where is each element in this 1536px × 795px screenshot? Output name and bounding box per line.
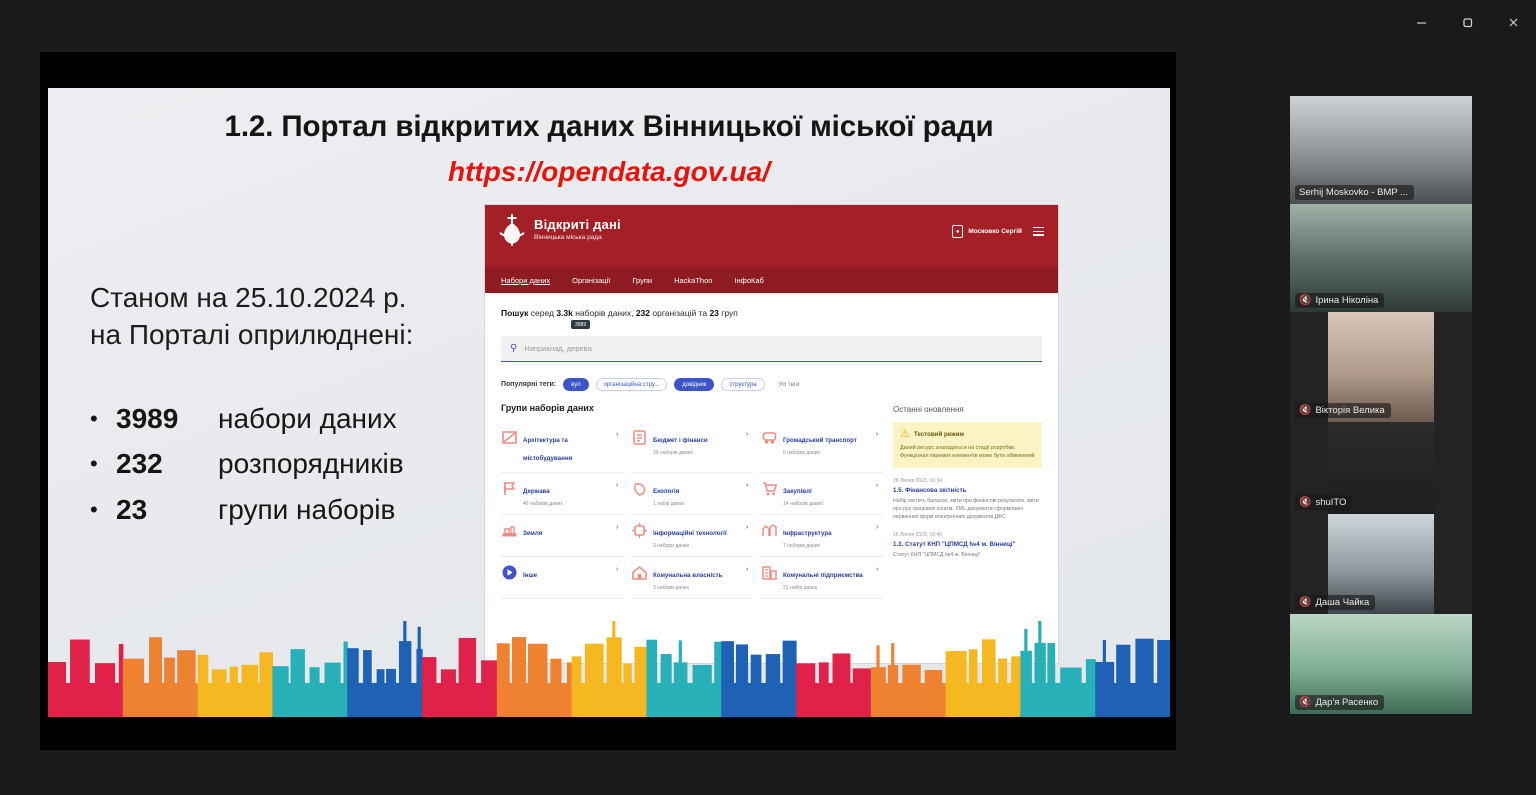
mic-muted-icon: 🔇 <box>1299 698 1311 708</box>
popular-tags: Популярні теги: вул організаційна стру..… <box>501 378 1042 391</box>
group-count: 3 набори даних <box>653 585 741 591</box>
participant-tile[interactable]: 🔇shuITO <box>1290 422 1472 514</box>
group-count: 7 наборів даних <box>783 543 871 549</box>
group-meta: Закупівлі14 наборів даних <box>783 480 871 507</box>
groups-grid: Архітектура та містобудування›Бюджет і ф… <box>501 422 883 599</box>
search-heading-mid2: організацій та <box>650 308 709 318</box>
participant-nameplate: Serhij Moskovko - BMP ... <box>1295 185 1414 200</box>
update-title[interactable]: 1.3. Статут КНП "ЦПМСД №4 м. Вінниці" <box>893 541 1042 549</box>
chevron-right-icon[interactable]: › <box>876 480 883 491</box>
portal-header: Відкриті дані Вінницька міська рада ● Мо… <box>485 205 1058 267</box>
group-card[interactable]: Інформаційні технології3 набори даних› <box>631 515 753 557</box>
warning-triangle-icon: ⚠ <box>900 429 910 440</box>
cart-icon <box>761 480 778 497</box>
group-count: 3 набори даних <box>653 543 741 549</box>
search-heading-suffix: груп <box>719 308 738 318</box>
notice-text: Даний ресурс знаходиться на стадії розро… <box>900 444 1035 460</box>
group-count: 1 набір даних <box>653 501 741 507</box>
search-heading-word: Пошук <box>501 308 528 318</box>
latest-updates-panel: Останні оновлення ⚠ Тестовий режим Даний… <box>893 403 1042 599</box>
brand-subtitle: Вінницька міська рада <box>534 234 621 242</box>
hamburger-icon[interactable] <box>1033 227 1044 238</box>
participant-name: Вікторія Велика <box>1315 405 1384 416</box>
datasets-count: 3.3k <box>556 308 573 318</box>
portal-url: https://opendata.gov.ua/ <box>48 156 1170 188</box>
participant-nameplate: 🔇Вікторія Велика <box>1295 403 1391 418</box>
update-description: Набір містить баланси, звіти про фінансо… <box>893 498 1042 521</box>
group-meta: Екологія1 набір даних <box>653 480 741 507</box>
participant-name: Дар'я Расенко <box>1315 697 1378 708</box>
chevron-right-icon[interactable]: › <box>876 522 883 533</box>
group-meta: Земля <box>523 522 611 540</box>
participant-nameplate: 🔇Даша Чайка <box>1295 595 1375 610</box>
lead-line-2: на Порталі оприлюднені: <box>90 317 490 354</box>
land-icon <box>501 522 518 539</box>
stat-label: набори даних <box>218 396 397 441</box>
page-title: 1.2. Портал відкритих даних Вінницької м… <box>48 110 1170 144</box>
notice-header: ⚠ Тестовий режим <box>900 429 1035 440</box>
group-card[interactable]: Інфраструктура7 наборів даних› <box>761 515 883 557</box>
search-icon: ⚲ <box>510 343 517 354</box>
restore-icon <box>1461 16 1474 29</box>
chevron-right-icon[interactable]: › <box>616 564 623 575</box>
search-heading-mid: наборів даних, <box>573 308 636 318</box>
participant-tile[interactable]: 🔇Дар'я Расенко <box>1290 614 1472 714</box>
group-name: Архітектура та містобудування <box>523 437 572 462</box>
group-meta: Комунальні підприємства21 набір даних <box>783 564 871 591</box>
group-card[interactable]: Архітектура та містобудування› <box>501 422 623 473</box>
popular-tags-label: Популярні теги: <box>501 381 556 388</box>
list-item: • 232 розпорядників <box>90 441 520 486</box>
updates-heading: Останні оновлення <box>893 405 1042 414</box>
participant-tile[interactable]: 🔇Даша Чайка <box>1290 514 1472 614</box>
stat-number: 3989 <box>116 396 218 441</box>
group-card[interactable]: Екологія1 набір даних› <box>631 473 753 515</box>
group-card[interactable]: Інше› <box>501 557 623 599</box>
chevron-right-icon[interactable]: › <box>876 564 883 575</box>
participant-name: Serhij Moskovko - BMP ... <box>1299 187 1408 198</box>
group-name: Комунальні підприємства <box>783 572 863 579</box>
city-skyline-decoration <box>48 621 1170 717</box>
list-item: • 3989 набори даних <box>90 396 520 441</box>
test-mode-notice: ⚠ Тестовий режим Даний ресурс знаходитьс… <box>893 422 1042 468</box>
lead-line-1: Станом на 25.10.2024 р. <box>90 280 490 317</box>
group-meta: Бюджет і фінанси39 наборів даних <box>653 429 741 456</box>
budget-icon <box>631 429 648 446</box>
group-card[interactable]: Закупівлі14 наборів даних› <box>761 473 883 515</box>
account-name: Московко Сергій <box>968 228 1022 235</box>
group-name: Держава <box>523 488 550 495</box>
update-description: Статут КНП "ЦПМСД №4 м. Вінниці" <box>893 552 1042 560</box>
stat-label: розпорядників <box>218 441 404 486</box>
close-button[interactable] <box>1490 0 1536 44</box>
bullet-icon: • <box>90 408 116 430</box>
portal-nav: Набори даних Організації Групи HackaThon… <box>485 267 1058 293</box>
minimize-icon <box>1415 16 1428 29</box>
chevron-right-icon[interactable]: › <box>616 480 623 491</box>
brand-text: Відкриті дані Вінницька міська рада <box>534 218 621 242</box>
group-meta: Комунальна власність3 набори даних <box>653 564 741 591</box>
brand-title: Відкриті дані <box>534 218 621 232</box>
stat-number: 232 <box>116 441 218 486</box>
groups-heading: Групи наборів даних <box>501 403 883 413</box>
group-count: 39 наборів даних <box>653 450 741 456</box>
participants-rail: Serhij Moskovko - BMP ...🔇Ірина Ніколіна… <box>1290 96 1472 714</box>
lead-text: Станом на 25.10.2024 р. на Порталі оприл… <box>90 280 490 354</box>
stats-list: • 3989 набори даних • 232 розпорядників … <box>90 396 520 532</box>
search-heading: Пошук серед 3.3k наборів даних, 232 орга… <box>501 308 1042 318</box>
participant-nameplate: 🔇Ірина Ніколіна <box>1295 293 1384 308</box>
group-meta: Інфраструктура7 наборів даних <box>783 522 871 549</box>
participant-name: Даша Чайка <box>1315 597 1369 608</box>
notice-title: Тестовий режим <box>914 431 964 438</box>
participant-name: shuITO <box>1315 497 1346 508</box>
group-meta: Інше <box>523 564 611 582</box>
stat-number: 23 <box>116 487 218 532</box>
infrastructure-icon <box>761 522 778 539</box>
participant-nameplate: 🔇shuITO <box>1295 495 1352 510</box>
group-count: 21 набір даних <box>783 585 871 591</box>
all-tags-link[interactable]: Усі теги <box>772 379 807 390</box>
chevron-right-icon[interactable]: › <box>746 522 753 533</box>
meeting-window: 1.2. Портал відкритих даних Вінницької м… <box>0 0 1536 795</box>
minimize-button[interactable] <box>1398 0 1444 44</box>
update-date: 26 Липня 2023, 16:34 <box>893 478 1042 484</box>
restore-button[interactable] <box>1444 0 1490 44</box>
group-name: Екологія <box>653 488 679 495</box>
list-item: • 23 групи наборів <box>90 487 520 532</box>
group-name: Земля <box>523 530 542 537</box>
nav-item-datasets[interactable]: Набори даних <box>501 276 550 285</box>
nav-item-infocab[interactable]: ІнфоКаб <box>734 276 763 285</box>
group-meta: Громадський транспорт6 наборів даних <box>783 429 871 456</box>
tag-chip[interactable]: вул <box>563 378 588 391</box>
update-date: 26 Липня 2023, 16:40 <box>893 532 1042 538</box>
flag-icon <box>501 480 518 497</box>
user-badge-icon: ● <box>952 225 963 238</box>
orgs-count: 232 <box>636 308 650 318</box>
group-name: Інформаційні технології <box>653 530 727 537</box>
mic-muted-icon: 🔇 <box>1299 296 1311 306</box>
update-item[interactable]: 26 Липня 2023, 16:40 1.3. Статут КНП "ЦП… <box>893 532 1042 560</box>
stat-label: групи наборів <box>218 487 395 532</box>
ecology-icon <box>631 480 648 497</box>
property-icon <box>631 564 648 581</box>
participant-nameplate: 🔇Дар'я Расенко <box>1295 695 1384 710</box>
chevron-right-icon[interactable]: › <box>876 429 883 440</box>
group-card[interactable]: Земля› <box>501 515 623 557</box>
group-name: Громадський транспорт <box>783 437 857 444</box>
participant-tile[interactable]: 🔇Ірина Ніколіна <box>1290 204 1472 312</box>
chevron-right-icon[interactable]: › <box>616 522 623 533</box>
vinnytsia-coat-of-arms-icon <box>499 213 525 247</box>
chevron-right-icon[interactable]: › <box>746 564 753 575</box>
nav-item-hackathon[interactable]: HackaThon <box>674 276 712 285</box>
update-title[interactable]: 1.5. Фінансова звітність <box>893 487 1042 495</box>
chevron-right-icon[interactable]: › <box>746 480 753 491</box>
bullet-icon: • <box>90 453 116 475</box>
chevron-right-icon[interactable]: › <box>616 429 623 440</box>
tag-chip[interactable]: структура <box>721 378 764 391</box>
search-placeholder: Наприклад, дерева <box>524 344 591 353</box>
group-card[interactable]: Громадський транспорт6 наборів даних› <box>761 422 883 473</box>
portal-brand[interactable]: Відкриті дані Вінницька міська рада <box>499 213 621 247</box>
group-count: 14 наборів даних <box>783 501 871 507</box>
other-icon <box>501 564 518 581</box>
presentation-slide: 1.2. Портал відкритих даних Вінницької м… <box>48 88 1170 717</box>
bullet-icon: • <box>90 499 116 521</box>
group-count: 46 наборів даних <box>523 501 611 507</box>
mic-muted-icon: 🔇 <box>1299 406 1311 416</box>
architecture-icon <box>501 429 518 446</box>
search-input[interactable]: ⚲ Наприклад, дерева <box>501 336 1042 362</box>
group-card[interactable]: Бюджет і фінанси39 наборів даних› <box>631 422 753 473</box>
portal-body: Групи наборів даних Архітектура та місто… <box>485 403 1058 599</box>
group-meta: Інформаційні технології3 набори даних <box>653 522 741 549</box>
group-name: Комунальна власність <box>653 572 723 579</box>
group-meta: Архітектура та містобудування <box>523 429 611 465</box>
mic-muted-icon: 🔇 <box>1299 498 1311 508</box>
group-meta: Держава46 наборів даних <box>523 480 611 507</box>
group-name: Інше <box>523 572 537 579</box>
group-count: 6 наборів даних <box>783 450 871 456</box>
group-name: Закупівлі <box>783 488 812 495</box>
window-controls <box>1360 0 1536 44</box>
count-tooltip-badge: 3989 <box>571 320 590 329</box>
participant-tile[interactable]: 🔇Вікторія Велика <box>1290 312 1472 422</box>
search-heading-rest: серед <box>528 308 556 318</box>
tag-chip[interactable]: довідник <box>674 378 714 391</box>
close-icon <box>1507 16 1520 29</box>
portal-search-section: Пошук серед 3.3k наборів даних, 232 орга… <box>485 293 1058 403</box>
nav-item-organizations[interactable]: Організації <box>572 276 610 285</box>
participant-tile[interactable]: Serhij Moskovko - BMP ... <box>1290 96 1472 204</box>
shared-screen-stage[interactable]: 1.2. Портал відкритих даних Вінницької м… <box>40 52 1176 750</box>
group-card[interactable]: Держава46 наборів даних› <box>501 473 623 515</box>
it-icon <box>631 522 648 539</box>
dataset-groups-panel: Групи наборів даних Архітектура та місто… <box>501 403 883 599</box>
transport-icon <box>761 429 778 446</box>
nav-item-groups[interactable]: Групи <box>632 276 652 285</box>
mic-muted-icon: 🔇 <box>1299 598 1311 608</box>
group-name: Інфраструктура <box>783 530 832 537</box>
participant-name: Ірина Ніколіна <box>1315 295 1378 306</box>
tag-chip[interactable]: організаційна стру... <box>596 378 668 391</box>
group-card[interactable]: Комунальна власність3 набори даних› <box>631 557 753 599</box>
chevron-right-icon[interactable]: › <box>746 429 753 440</box>
account-menu[interactable]: ● Московко Сергій <box>952 225 1022 238</box>
update-item[interactable]: 26 Липня 2023, 16:34 1.5. Фінансова звіт… <box>893 478 1042 521</box>
groups-count: 23 <box>709 308 718 318</box>
enterprise-icon <box>761 564 778 581</box>
group-name: Бюджет і фінанси <box>653 437 708 444</box>
portal-screenshot: Відкриті дані Вінницька міська рада ● Мо… <box>485 205 1058 663</box>
group-card[interactable]: Комунальні підприємства21 набір даних› <box>761 557 883 599</box>
